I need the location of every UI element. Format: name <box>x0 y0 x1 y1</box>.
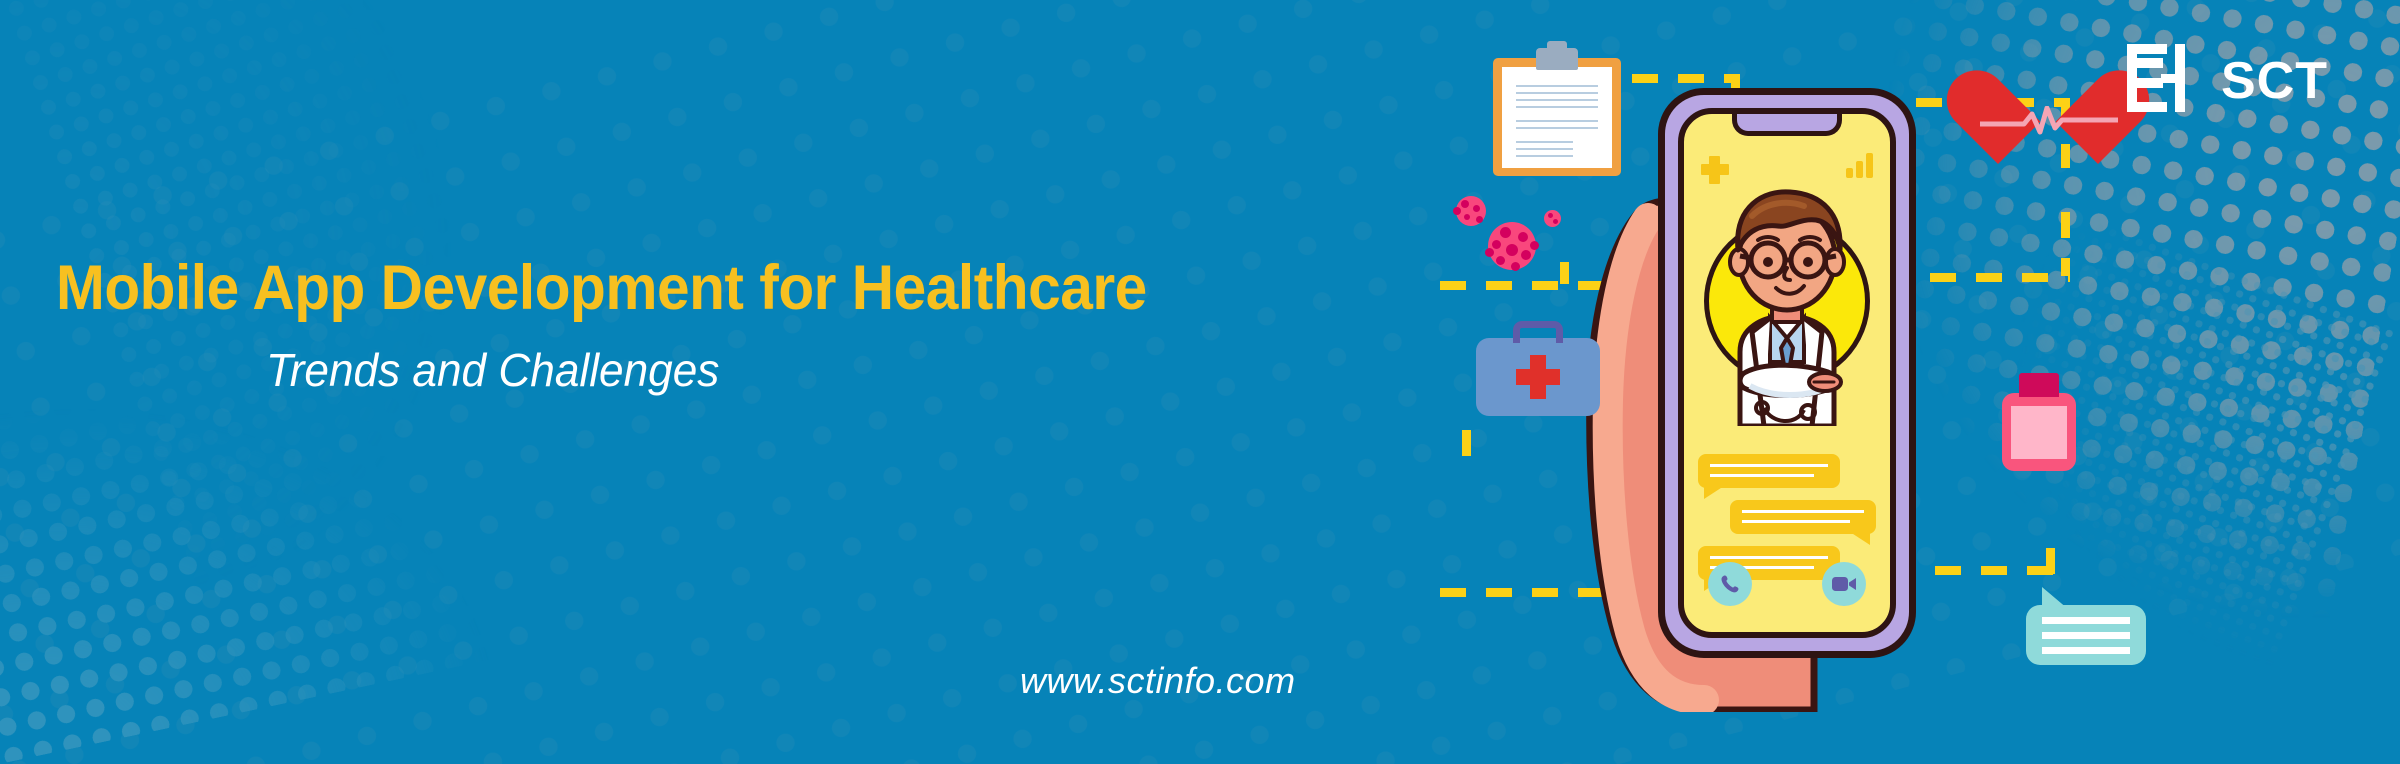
video-camera-icon <box>1831 574 1857 594</box>
bottle-label <box>2011 406 2067 459</box>
phone-screen <box>1678 108 1896 638</box>
website-url[interactable]: www.sctinfo.com <box>1020 660 1296 702</box>
ecg-line-icon <box>1980 106 2118 136</box>
signal-bars-icon <box>1846 152 1873 178</box>
logo-text: SCT <box>2221 55 2328 107</box>
kit-handle <box>1513 321 1563 343</box>
brand-logo[interactable]: SCT <box>2123 40 2328 121</box>
phone-icon <box>1718 572 1742 596</box>
medicine-bottle-icon <box>2002 393 2076 471</box>
clipboard-icon <box>1493 58 1621 176</box>
kit-cross-vertical <box>1530 355 1546 399</box>
virus-icon <box>1488 222 1536 270</box>
dashed-line-mid-right-v <box>2061 212 2070 276</box>
first-aid-kit-icon <box>1476 338 1600 416</box>
bottle-cap <box>2019 373 2059 397</box>
headline-block: Mobile App Development for Healthcare Tr… <box>56 255 1316 397</box>
video-call-button[interactable] <box>1822 562 1866 606</box>
smartphone[interactable] <box>1658 88 1916 658</box>
chat-message-bubble[interactable] <box>1730 500 1876 534</box>
halftone-dots-bottom-left <box>0 58 743 764</box>
phone-notch <box>1732 110 1842 136</box>
dashed-line-left-v <box>1462 430 1471 474</box>
dashed-line-mid-right <box>1930 273 2070 282</box>
dashed-line-bottom-right-v <box>2046 548 2055 578</box>
page-title: Mobile App Development for Healthcare <box>56 255 1228 321</box>
clipboard-clip <box>1536 48 1578 70</box>
virus-icon-small <box>1456 196 1486 226</box>
chat-message-bubble[interactable] <box>1698 454 1840 488</box>
heart-pulse-icon <box>1998 68 2098 160</box>
logo-mark-icon <box>2123 40 2199 121</box>
page-subtitle: Trends and Challenges <box>266 343 1274 397</box>
clipboard-paper <box>1502 67 1612 168</box>
chat-bubble-tail <box>2042 587 2068 609</box>
phone-call-button[interactable] <box>1708 562 1752 606</box>
healthcare-banner: Mobile App Development for Healthcare Tr… <box>0 0 2400 764</box>
chat-bubble-icon <box>2026 605 2146 665</box>
doctor-avatar <box>1692 176 1882 426</box>
dashed-line-bottom-right <box>1935 566 2055 575</box>
clipboard-lines <box>1516 85 1598 162</box>
